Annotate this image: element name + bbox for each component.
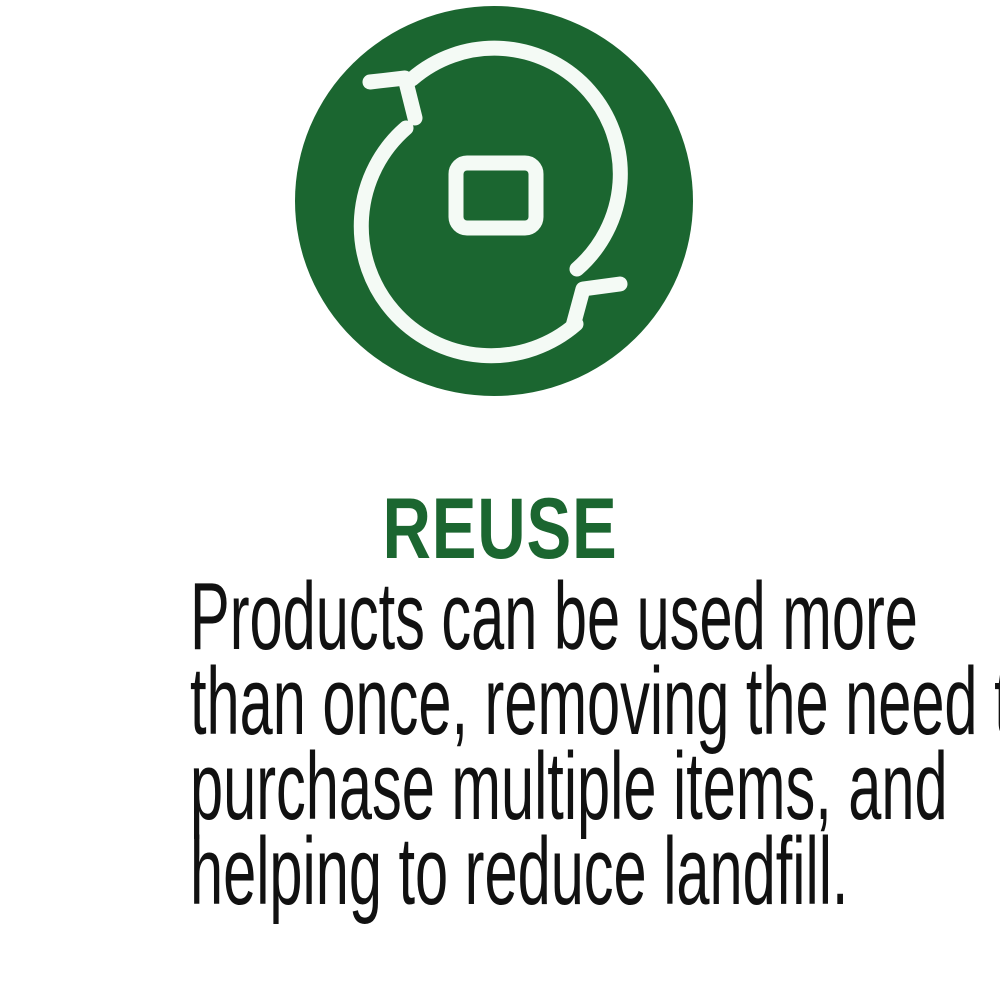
- reuse-icon-badge: [295, 6, 693, 396]
- description-line-2: than once, removing the need to: [190, 659, 810, 744]
- description-text: Products can be used more than once, rem…: [0, 574, 1000, 914]
- description-line-3: purchase multiple items, and: [190, 744, 810, 829]
- description-line-1: Products can be used more: [190, 574, 810, 659]
- badge-circle: [295, 6, 693, 396]
- page-title: REUSE: [110, 486, 890, 572]
- reuse-info-card: REUSE Products can be used more than onc…: [0, 0, 1000, 1000]
- description-line-4: helping to reduce landfill.: [190, 829, 810, 914]
